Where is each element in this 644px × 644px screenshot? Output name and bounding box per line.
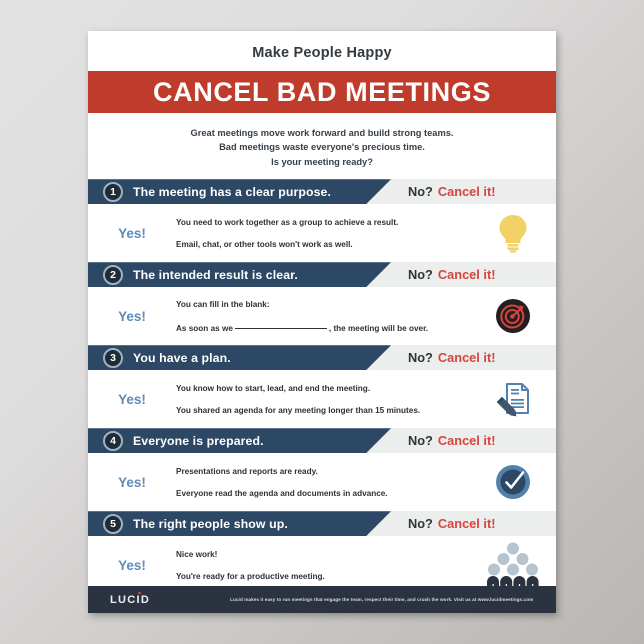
answer-line-2: You're ready for a productive meeting. <box>176 571 470 582</box>
lucid-logo: LUCID <box>110 594 150 606</box>
checklist-item-bar: 1 The meeting has a clear purpose. <box>88 179 391 204</box>
poster-subhead: Great meetings move work forward and bui… <box>88 113 556 179</box>
footer-tagline: Lucid makes it easy to run meetings that… <box>230 597 533 602</box>
lucid-logo-text: LUCID <box>110 594 150 606</box>
step-number-badge: 2 <box>103 265 123 285</box>
answer-line-1: You can fill in the blank: <box>176 299 470 310</box>
answer-line-1: Presentations and reports are ready. <box>176 466 470 477</box>
answer-line-1: Nice work! <box>176 549 470 560</box>
checklist-answer-lines: Presentations and reports are ready. Eve… <box>176 466 470 499</box>
no-cancel-block: No? Cancel it! <box>408 511 496 536</box>
poster-title-band: CANCEL BAD MEETINGS <box>88 71 556 113</box>
checklist-item-bar: 3 You have a plan. <box>88 345 391 370</box>
fill-blank-line <box>235 321 327 329</box>
no-label: No? <box>408 516 433 531</box>
step-number-badge: 3 <box>103 348 123 368</box>
page-title: CANCEL BAD MEETINGS <box>153 79 491 106</box>
yes-label: Yes! <box>88 558 176 573</box>
poster: Make People Happy CANCEL BAD MEETINGS Gr… <box>88 31 556 613</box>
no-cancel-block: No? Cancel it! <box>408 345 496 370</box>
checklist-answer-lines: You know how to start, lead, and end the… <box>176 383 470 416</box>
subhead-line-2: Bad meetings waste everyone's precious t… <box>128 140 516 154</box>
checklist-item-header: 3 You have a plan. No? Cancel it! <box>88 345 556 370</box>
no-label: No? <box>408 350 433 365</box>
fill-blank-suffix: , the meeting will be over. <box>329 324 428 333</box>
answer-line-1: You need to work together as a group to … <box>176 217 470 228</box>
checklist-item-header: 4 Everyone is prepared. No? Cancel it! <box>88 428 556 453</box>
answer-line-2: As soon as we, the meeting will be over. <box>176 321 470 334</box>
no-cancel-block: No? Cancel it! <box>408 428 496 453</box>
checklist-item-bar: 5 The right people show up. <box>88 511 391 536</box>
checklist-item-body: Yes! Presentations and reports are ready… <box>88 453 556 511</box>
yes-label: Yes! <box>88 392 176 407</box>
checklist-question: The intended result is clear. <box>133 268 298 282</box>
checklist-item: 3 You have a plan. No? Cancel it! Yes! Y… <box>88 345 556 428</box>
no-label: No? <box>408 184 433 199</box>
poster-footer: LUCID Lucid makes it easy to run meeting… <box>88 586 556 613</box>
checklist-item: 5 The right people show up. No? Cancel i… <box>88 511 556 594</box>
step-number-badge: 5 <box>103 514 123 534</box>
checklist-item-header: 2 The intended result is clear. No? Canc… <box>88 262 556 287</box>
fill-blank-prefix: As soon as we <box>176 324 233 333</box>
answer-line-2: Everyone read the agenda and documents i… <box>176 488 470 499</box>
cancel-label: Cancel it! <box>438 350 496 365</box>
checklist-answer-lines: You need to work together as a group to … <box>176 217 470 250</box>
checklist-item-header: 1 The meeting has a clear purpose. No? C… <box>88 179 556 204</box>
subhead-line-3: Is your meeting ready? <box>128 155 516 169</box>
checklist-question: The right people show up. <box>133 517 288 531</box>
checklist-item: 4 Everyone is prepared. No? Cancel it! Y… <box>88 428 556 511</box>
checklist-answer-lines: You can fill in the blank: As soon as we… <box>176 299 470 334</box>
answer-line-2: You shared an agenda for any meeting lon… <box>176 405 470 416</box>
checklist-item-header: 5 The right people show up. No? Cancel i… <box>88 511 556 536</box>
subhead-line-1: Great meetings move work forward and bui… <box>128 126 516 140</box>
no-label: No? <box>408 433 433 448</box>
cancel-label: Cancel it! <box>438 433 496 448</box>
lightbulb-icon <box>470 204 556 262</box>
checklist-item-body: Yes! You need to work together as a grou… <box>88 204 556 262</box>
answer-line-2: Email, chat, or other tools won't work a… <box>176 239 470 250</box>
checklist: 1 The meeting has a clear purpose. No? C… <box>88 179 556 594</box>
checklist-answer-lines: Nice work! You're ready for a productive… <box>176 549 470 582</box>
checklist-item: 1 The meeting has a clear purpose. No? C… <box>88 179 556 262</box>
no-cancel-block: No? Cancel it! <box>408 262 496 287</box>
step-number-badge: 4 <box>103 431 123 451</box>
checklist-question: You have a plan. <box>133 351 231 365</box>
checklist-item-bar: 2 The intended result is clear. <box>88 262 391 287</box>
step-number-badge: 1 <box>103 182 123 202</box>
checkmark-badge-icon <box>470 453 556 511</box>
cancel-label: Cancel it! <box>438 184 496 199</box>
poster-stage: Make People Happy CANCEL BAD MEETINGS Gr… <box>0 0 644 644</box>
answer-line-1: You know how to start, lead, and end the… <box>176 383 470 394</box>
checklist-item: 2 The intended result is clear. No? Canc… <box>88 262 556 345</box>
no-label: No? <box>408 267 433 282</box>
no-cancel-block: No? Cancel it! <box>408 179 496 204</box>
cancel-label: Cancel it! <box>438 516 496 531</box>
checklist-item-body: Yes! You can fill in the blank: As soon … <box>88 287 556 345</box>
poster-kicker: Make People Happy <box>88 31 556 71</box>
yes-label: Yes! <box>88 475 176 490</box>
yes-label: Yes! <box>88 226 176 241</box>
checklist-item-body: Yes! You know how to start, lead, and en… <box>88 370 556 428</box>
logo-dot-icon <box>138 592 141 595</box>
document-pencil-icon <box>470 370 556 428</box>
checklist-item-bar: 4 Everyone is prepared. <box>88 428 391 453</box>
checklist-question: Everyone is prepared. <box>133 434 264 448</box>
cancel-label: Cancel it! <box>438 267 496 282</box>
target-icon <box>470 287 556 345</box>
yes-label: Yes! <box>88 309 176 324</box>
checklist-question: The meeting has a clear purpose. <box>133 185 331 199</box>
